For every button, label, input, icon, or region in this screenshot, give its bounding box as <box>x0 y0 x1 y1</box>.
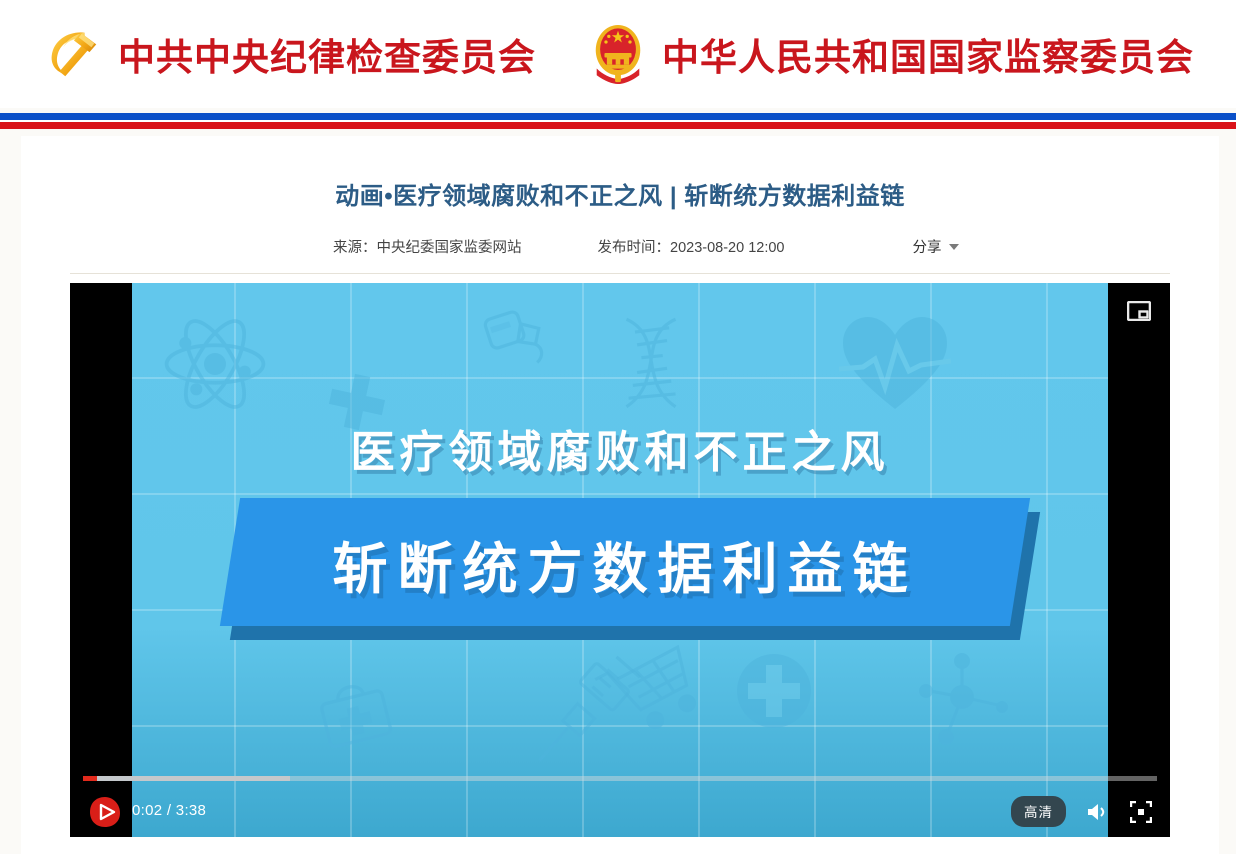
video-banner: 斩断统方数据利益链 <box>230 498 1030 643</box>
article-sheet: 动画•医疗领域腐败和不正之风 | 斩断统方数据利益链 来源：中央纪委国家监委网站… <box>21 136 1219 854</box>
chevron-down-icon <box>949 244 959 250</box>
share-label: 分享 <box>913 236 942 257</box>
progress-bar-buffered <box>83 776 290 781</box>
atom-icon <box>160 309 270 419</box>
video-control-bar: 0:02 / 3:38 高清 <box>70 787 1170 837</box>
video-canvas: 医疗领域腐败和不正之风 斩断统方数据利益链 <box>132 283 1108 837</box>
site-header: 中共中央纪律检查委员会 <box>0 0 1236 108</box>
time-display: 0:02 / 3:38 <box>132 802 206 819</box>
page-title: 动画•医疗领域腐败和不正之风 | 斩断统方数据利益链 <box>21 176 1219 211</box>
dna-helix-icon <box>612 315 690 411</box>
brand-text-cpc: 中共中央纪律检查委员会 <box>118 27 536 81</box>
picture-in-picture-icon[interactable] <box>1122 296 1156 326</box>
progress-bar-played <box>83 776 97 781</box>
divider-stripe-blue <box>0 113 1236 120</box>
circle-cross-icon <box>734 651 814 731</box>
volume-icon[interactable] <box>1084 799 1110 825</box>
prc-national-emblem-icon <box>588 24 648 84</box>
brand-text-nation: 中华人民共和国国家监察委员会 <box>662 27 1194 81</box>
share-dropdown[interactable]: 分享 <box>913 236 959 257</box>
video-banner-text: 斩断统方数据利益链 <box>230 524 1020 604</box>
video-right-controls: 高清 <box>1011 796 1154 827</box>
tricolor-divider <box>0 113 1236 129</box>
meta-source: 来源：中央纪委国家监委网站 <box>333 236 522 257</box>
brand-lockup-cpc[interactable]: 中共中央纪律检查委员会 <box>42 23 536 85</box>
progress-bar-track[interactable] <box>83 776 1157 781</box>
article-meta-row: 来源：中央纪委国家监委网站 发布时间：2023-08-20 12:00 分享 <box>70 236 1170 274</box>
video-player[interactable]: 医疗领域腐败和不正之风 斩断统方数据利益链 <box>70 283 1170 837</box>
video-headline: 医疗领域腐败和不正之风 <box>132 416 1108 480</box>
meta-publish-time: 发布时间：2023-08-20 12:00 <box>598 236 785 257</box>
divider-stripe-red <box>0 122 1236 129</box>
quality-badge[interactable]: 高清 <box>1011 796 1066 827</box>
heartbeat-heart-icon <box>839 313 951 413</box>
molecule-icon <box>914 647 1010 747</box>
cpc-hammer-sickle-emblem-icon <box>42 23 104 85</box>
play-button[interactable] <box>88 795 122 829</box>
brand-lockup-nation[interactable]: 中华人民共和国国家监察委员会 <box>588 24 1194 84</box>
page-root: 中共中央纪律检查委员会 <box>0 0 1236 854</box>
fullscreen-icon[interactable] <box>1128 799 1154 825</box>
